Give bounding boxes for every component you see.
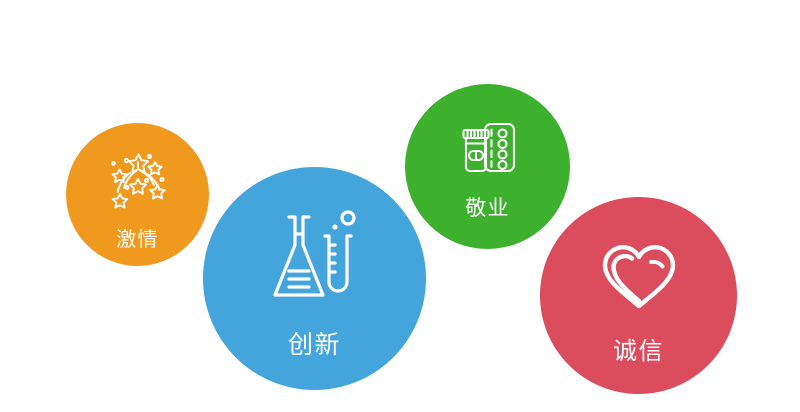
values-infographic: 激情 — [0, 0, 800, 412]
heart-icon — [599, 241, 679, 313]
lab-flask-test-tube-icon — [269, 209, 361, 305]
bubble-integrity-label: 诚信 — [613, 331, 664, 366]
bubble-passion-label: 激情 — [116, 223, 158, 252]
bubble-dedication-label: 敬业 — [465, 192, 510, 222]
bubble-innovation-content: 创新 — [203, 167, 426, 396]
bubble-passion[interactable]: 激情 — [66, 123, 209, 266]
bubble-innovation[interactable]: 创新 — [203, 167, 426, 390]
bubble-integrity[interactable]: 诚信 — [540, 197, 737, 394]
bubble-integrity-content: 诚信 — [540, 197, 737, 402]
medicine-bottle-blister-pack-icon — [457, 120, 519, 180]
bubble-passion-content: 激情 — [66, 123, 209, 272]
bubble-innovation-label: 创新 — [288, 325, 341, 361]
fireworks-stars-icon — [105, 149, 171, 213]
